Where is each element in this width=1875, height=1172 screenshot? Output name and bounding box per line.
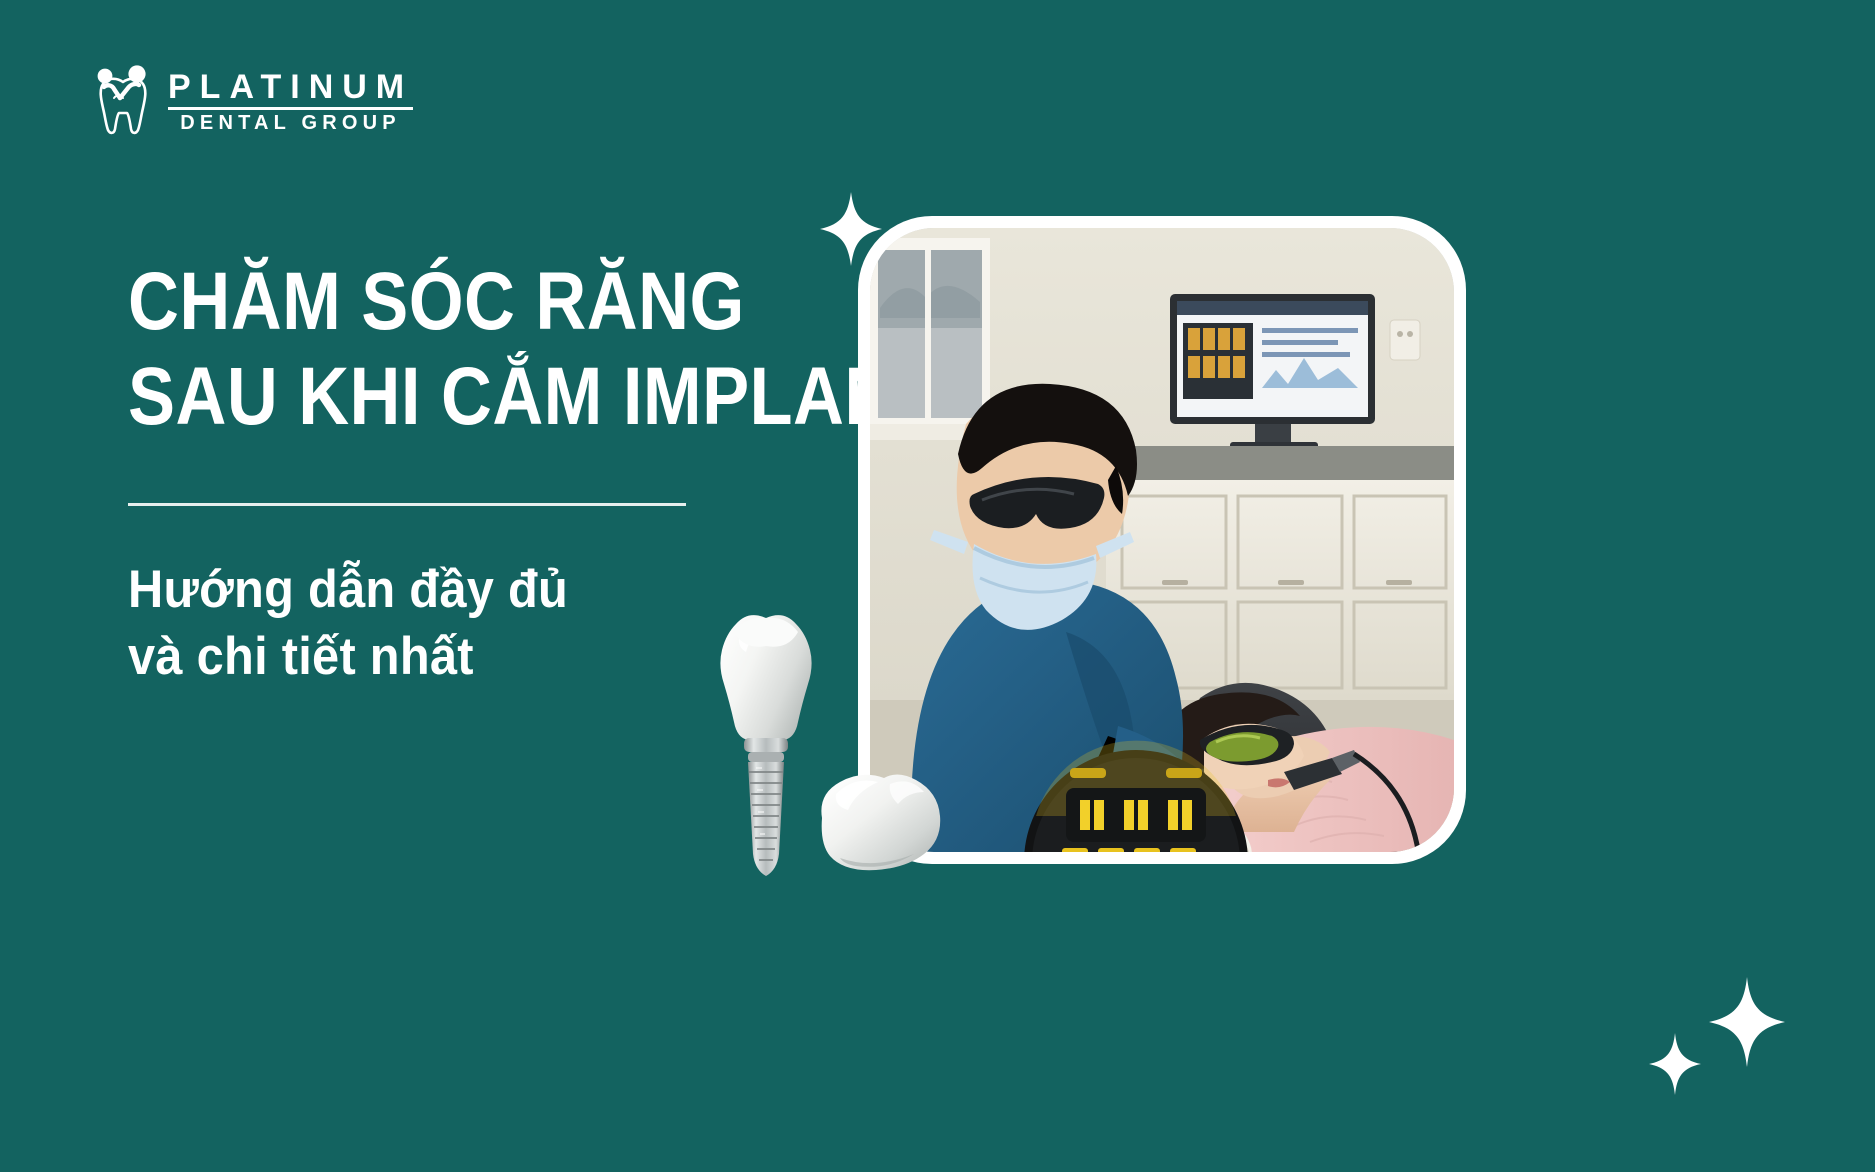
subheading-line-2: và chi tiết nhất	[128, 625, 790, 690]
headline-line-1: CHĂM SÓC RĂNG	[128, 258, 747, 347]
headline-line-2: SAU KHI CẮM IMPLANT	[128, 353, 747, 442]
hero-photo	[870, 228, 1454, 852]
brand-logo[interactable]: PLATINUM DENTAL GROUP	[92, 62, 413, 136]
sparkle-bottom-right-small-icon	[1649, 1033, 1701, 1095]
banner-canvas: PLATINUM DENTAL GROUP CHĂM SÓC RĂNG SAU …	[0, 0, 1875, 1172]
dental-crown-graphic	[806, 760, 958, 888]
brand-tagline: DENTAL GROUP	[168, 113, 413, 133]
tooth-with-two-figures-icon	[92, 62, 154, 136]
headline-divider	[128, 503, 686, 506]
brand-logo-text: PLATINUM DENTAL GROUP	[168, 66, 413, 133]
logo-divider	[168, 107, 413, 110]
brand-name: PLATINUM	[168, 70, 413, 104]
subheading-line-1: Hướng dẫn đầy đủ	[128, 558, 790, 623]
sparkle-bottom-right-large-icon	[1709, 977, 1785, 1067]
